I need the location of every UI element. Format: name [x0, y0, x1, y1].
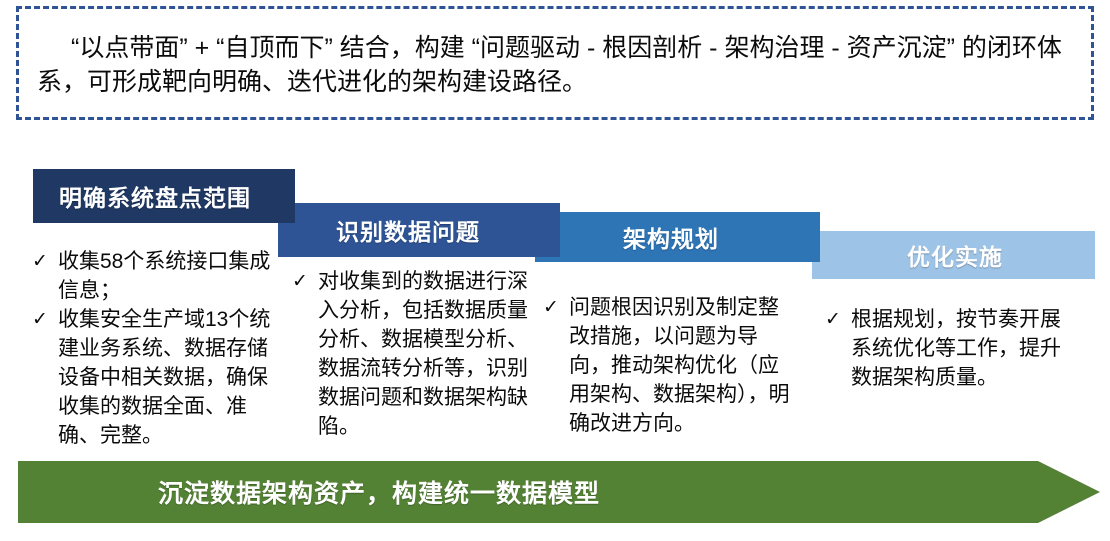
list-item-text: 收集安全生产域13个统建业务系统、数据存储设备中相关数据，确保收集的数据全面、准… — [58, 305, 282, 450]
check-icon: ✓ — [292, 267, 318, 296]
list-item: ✓ 收集安全生产域13个统建业务系统、数据存储设备中相关数据，确保收集的数据全面… — [32, 305, 282, 450]
step-banner-4-label: 优化实施 — [907, 238, 1095, 272]
list-item: ✓ 根据规划，按节奏开展系统优化等工作，提升数据架构质量。 — [825, 305, 1073, 392]
step-bullets-2: ✓ 对收集到的数据进行深入分析，包括数据质量分析、数据模型分析、数据流转分析等，… — [292, 267, 530, 441]
list-item-text: 收集58个系统接口集成信息； — [58, 247, 282, 305]
step-bullets-3: ✓ 问题根因识别及制定整改措施，以问题为导向，推动架构优化（应用架构、数据架构）… — [543, 293, 793, 438]
step-bullets-4: ✓ 根据规划，按节奏开展系统优化等工作，提升数据架构质量。 — [825, 305, 1073, 392]
step-banner-2-label: 识别数据问题 — [336, 213, 560, 247]
list-item: ✓ 对收集到的数据进行深入分析，包括数据质量分析、数据模型分析、数据流转分析等，… — [292, 267, 530, 441]
step-banner-4[interactable]: 优化实施 — [812, 231, 1095, 279]
list-item-text: 根据规划，按节奏开展系统优化等工作，提升数据架构质量。 — [851, 305, 1073, 392]
footer-arrow-label: 沉淀数据架构资产，构建统一数据模型 — [158, 474, 600, 510]
process-steps: 明确系统盘点范围 识别数据问题 架构规划 优化实施 ✓ 收集58个系统接口集成信… — [0, 0, 1110, 460]
check-icon: ✓ — [825, 305, 851, 334]
list-item: ✓ 收集58个系统接口集成信息； — [32, 247, 282, 305]
step-bullets-1: ✓ 收集58个系统接口集成信息； ✓ 收集安全生产域13个统建业务系统、数据存储… — [32, 247, 282, 450]
check-icon: ✓ — [32, 305, 58, 334]
step-banner-1-label: 明确系统盘点范围 — [59, 179, 295, 213]
step-banner-3-label: 架构规划 — [623, 220, 820, 254]
check-icon: ✓ — [543, 293, 569, 322]
check-icon: ✓ — [32, 247, 58, 276]
list-item: ✓ 问题根因识别及制定整改措施，以问题为导向，推动架构优化（应用架构、数据架构）… — [543, 293, 793, 438]
step-banner-2[interactable]: 识别数据问题 — [278, 203, 560, 257]
list-item-text: 问题根因识别及制定整改措施，以问题为导向，推动架构优化（应用架构、数据架构），明… — [569, 293, 793, 438]
footer-arrow-banner[interactable]: 沉淀数据架构资产，构建统一数据模型 — [18, 461, 1100, 523]
step-banner-3[interactable]: 架构规划 — [535, 212, 820, 262]
step-banner-1[interactable]: 明确系统盘点范围 — [33, 169, 295, 223]
list-item-text: 对收集到的数据进行深入分析，包括数据质量分析、数据模型分析、数据流转分析等，识别… — [318, 267, 530, 441]
